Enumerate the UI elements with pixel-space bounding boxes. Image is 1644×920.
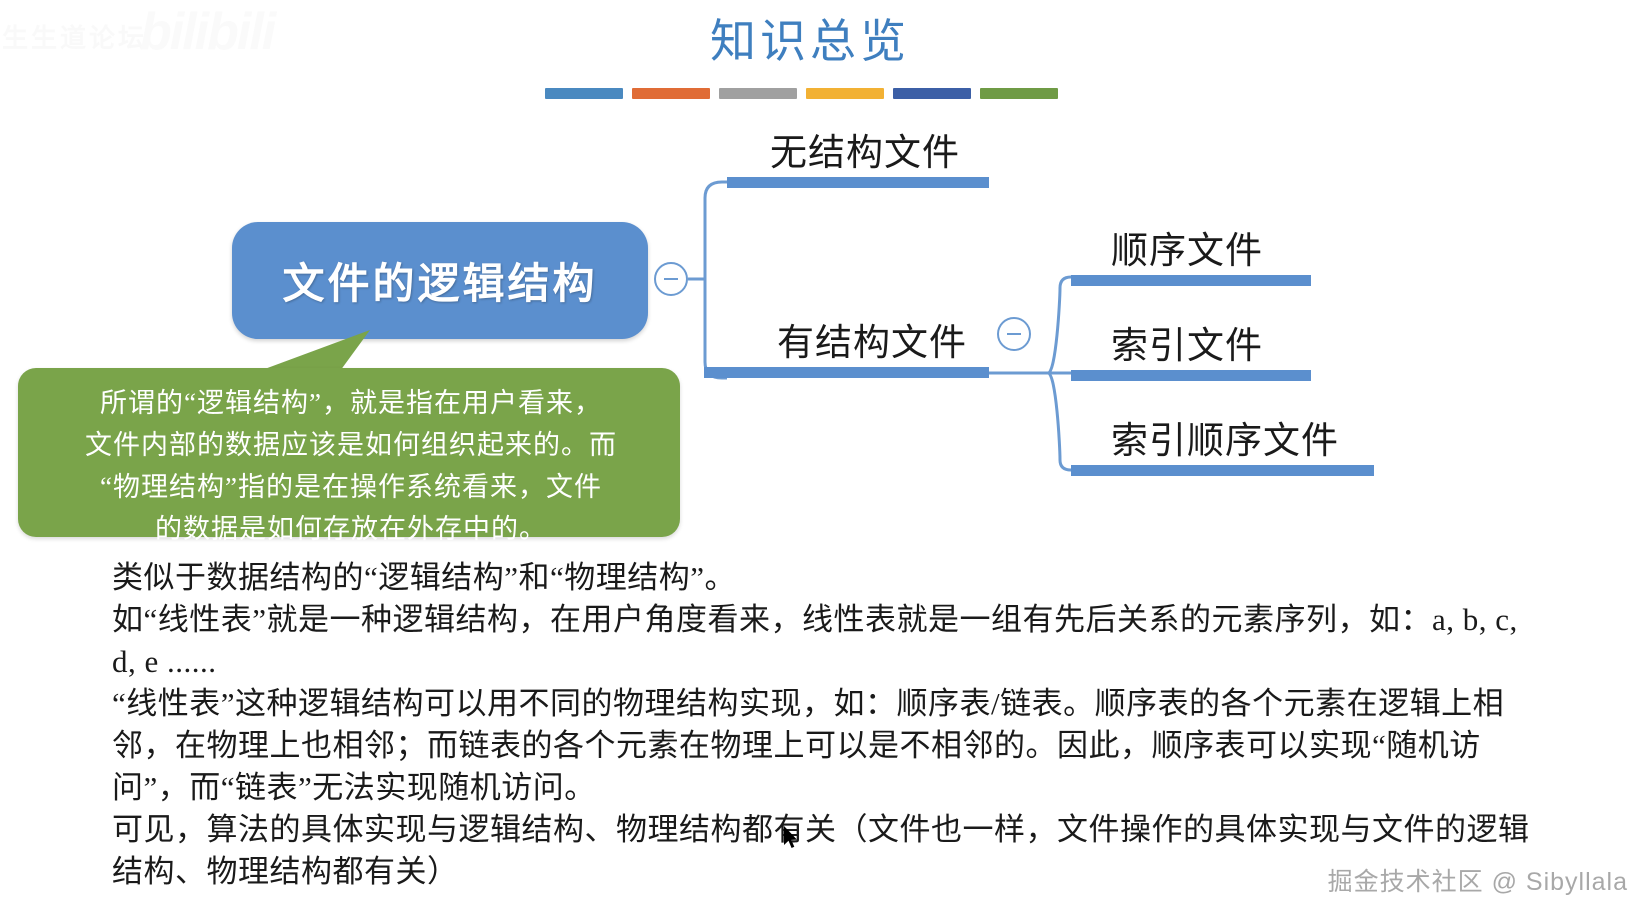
mindmap-root-node[interactable]: 文件的逻辑结构 bbox=[232, 222, 648, 339]
mindmap-subbranch-underline bbox=[1071, 370, 1311, 381]
title-bar-darkblue bbox=[893, 88, 971, 99]
bilibili-logo-icon: bilibili bbox=[140, 2, 274, 62]
mouse-cursor-icon bbox=[784, 826, 800, 850]
callout-line: “物理结构”指的是在操作系统看来，文件 bbox=[36, 466, 666, 508]
body-paragraph: 类似于数据结构的“逻辑结构”和“物理结构”。 bbox=[112, 557, 1532, 599]
page-title-text: 知识总览 bbox=[520, 12, 1100, 72]
mindmap-root-label: 文件的逻辑结构 bbox=[232, 250, 648, 311]
mindmap-branch-underline bbox=[727, 177, 989, 188]
title-bar-gray bbox=[719, 88, 797, 99]
collapse-minus-icon-structured[interactable] bbox=[997, 317, 1031, 351]
collapse-minus-icon-root[interactable] bbox=[654, 262, 688, 296]
callout-line: 的数据是如何存放在外存中的。 bbox=[36, 508, 666, 550]
bilibili-watermark-text: 生生道论坛 bbox=[2, 18, 147, 55]
title-bar-blue bbox=[545, 88, 623, 99]
callout-note-text: 所谓的“逻辑结构”，就是指在用户看来， 文件内部的数据应该是如何组织起来的。而 … bbox=[36, 382, 666, 550]
title-bar-orange bbox=[632, 88, 710, 99]
slide-page: 生生道论坛 bilibili 知识总览 文件的逻辑结构 无结构文件 bbox=[0, 0, 1644, 920]
juejin-watermark: 掘金技术社区 @ Sibyllala bbox=[1328, 862, 1628, 898]
mindmap-branch-label: 无结构文件 bbox=[770, 122, 960, 176]
body-paragraph: 可见，算法的具体实现与逻辑结构、物理结构都有关（文件也一样，文件操作的具体实现与… bbox=[112, 809, 1532, 893]
mindmap-subbranch-label: 索引顺序文件 bbox=[1111, 410, 1339, 464]
mindmap-branch-underline bbox=[704, 367, 989, 378]
title-color-bars bbox=[545, 88, 1058, 99]
mindmap-branch-unstructured[interactable]: 无结构文件 bbox=[727, 118, 989, 188]
mindmap-subbranch-underline bbox=[1071, 465, 1374, 476]
mindmap-subbranch-index-sequential[interactable]: 索引顺序文件 bbox=[1071, 408, 1374, 476]
page-title: 知识总览 bbox=[520, 12, 1100, 72]
mindmap-subbranch-label: 索引文件 bbox=[1111, 315, 1263, 369]
body-paragraph: 如“线性表”就是一种逻辑结构，在用户角度看来，线性表就是一组有先后关系的元素序列… bbox=[112, 599, 1532, 683]
callout-line: 所谓的“逻辑结构”，就是指在用户看来， bbox=[36, 382, 666, 424]
mindmap-subbranch-sequential[interactable]: 顺序文件 bbox=[1071, 218, 1311, 286]
body-text-block: 类似于数据结构的“逻辑结构”和“物理结构”。 如“线性表”就是一种逻辑结构，在用… bbox=[112, 557, 1532, 893]
body-paragraph: “线性表”这种逻辑结构可以用不同的物理结构实现，如：顺序表/链表。顺序表的各个元… bbox=[112, 683, 1532, 809]
callout-line: 文件内部的数据应该是如何组织起来的。而 bbox=[36, 424, 666, 466]
mindmap-subbranch-label: 顺序文件 bbox=[1111, 220, 1263, 274]
mindmap-branch-label: 有结构文件 bbox=[777, 312, 967, 366]
mindmap-subbranch-index[interactable]: 索引文件 bbox=[1071, 313, 1311, 381]
mindmap-branch-structured[interactable]: 有结构文件 bbox=[704, 305, 989, 378]
title-bar-yellow bbox=[806, 88, 884, 99]
callout-note: 所谓的“逻辑结构”，就是指在用户看来， 文件内部的数据应该是如何组织起来的。而 … bbox=[18, 368, 680, 537]
bilibili-watermark: 生生道论坛 bilibili bbox=[0, 0, 290, 80]
mindmap-subbranch-underline bbox=[1071, 275, 1311, 286]
title-bar-green bbox=[980, 88, 1058, 99]
